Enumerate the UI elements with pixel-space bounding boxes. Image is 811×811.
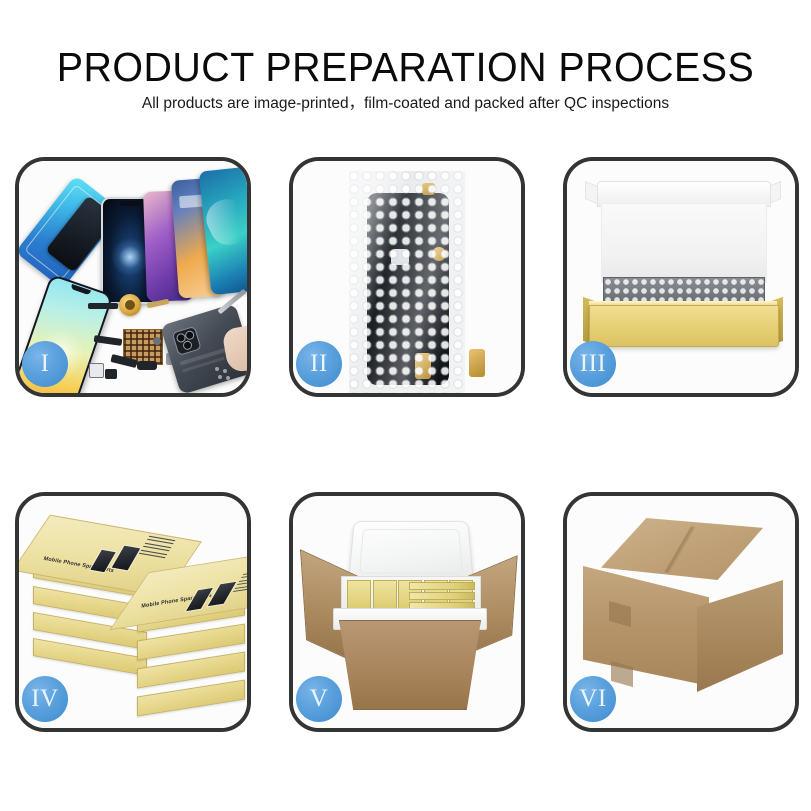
yellow-box-item	[409, 582, 475, 590]
carton-top-seam-icon	[639, 522, 723, 578]
gold-tape-icon	[469, 349, 485, 377]
step-badge-5: V	[296, 676, 342, 722]
bag-sheen-icon	[349, 171, 465, 393]
yellow-box-item	[409, 592, 475, 600]
flex-cable-icon	[88, 303, 118, 309]
bubble-wrap-bag-icon	[349, 171, 465, 393]
step-badge-1: I	[22, 341, 68, 387]
foam-lid-icon	[348, 521, 474, 584]
sim-tray-icon	[89, 363, 104, 378]
phone-large-notch-icon	[70, 284, 91, 295]
carton-body-icon	[339, 620, 481, 710]
flex-cable-icon	[94, 335, 123, 346]
process-step-grid: I II	[0, 0, 811, 811]
step-badge-3: III	[570, 341, 616, 387]
carton-right-face-icon	[697, 580, 783, 692]
open-inner-box-icon	[583, 181, 783, 361]
carton-left-face-icon	[583, 566, 709, 686]
speaker-module-icon	[137, 361, 157, 370]
small-part-icon	[105, 369, 117, 379]
step-badge-4: IV	[22, 676, 68, 722]
glass-notch-icon	[119, 201, 141, 206]
home-button-icon	[153, 337, 161, 345]
box-back-wall-icon	[601, 203, 767, 283]
sealed-carton-icon	[583, 518, 783, 698]
vibration-motor-icon	[119, 294, 141, 316]
screws-icon	[215, 367, 231, 381]
step-badge-6: VI	[570, 676, 616, 722]
box-front-icon	[589, 305, 779, 347]
step-badge-2: II	[296, 341, 342, 387]
